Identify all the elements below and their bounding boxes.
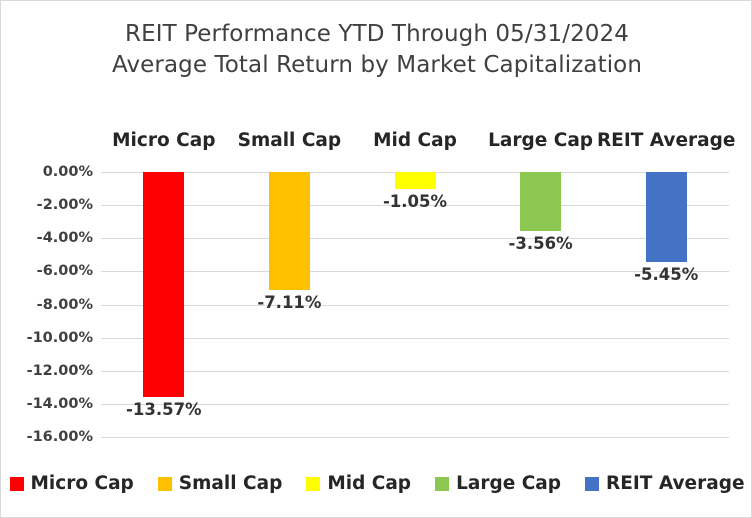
plot-area: -13.57%-7.11%-1.05%-3.56%-5.45% (101, 172, 729, 437)
gridline (101, 338, 729, 339)
category-label-small-cap: Small Cap (238, 130, 342, 151)
bar-value-label-large-cap: -3.56% (509, 234, 573, 253)
legend-item-large-cap[interactable]: Large Cap (435, 473, 561, 494)
chart-title: REIT Performance YTD Through 05/31/2024 … (1, 19, 752, 81)
y-axis: 0.00%-2.00%-4.00%-6.00%-8.00%-10.00%-12.… (1, 1, 101, 518)
chart-title-line-1: REIT Performance YTD Through 05/31/2024 (1, 19, 752, 50)
category-label-large-cap: Large Cap (488, 130, 593, 151)
bar-small-cap[interactable] (269, 172, 310, 290)
y-axis-tick-label: -12.00% (27, 363, 93, 379)
legend-item-micro-cap[interactable]: Micro Cap (10, 473, 134, 494)
category-label-micro-cap: Micro Cap (112, 130, 215, 151)
category-label-mid-cap: Mid Cap (373, 130, 457, 151)
y-axis-tick-label: -6.00% (37, 263, 93, 279)
chart-title-line-2: Average Total Return by Market Capitaliz… (1, 50, 752, 81)
y-axis-tick-label: -10.00% (27, 330, 93, 346)
y-axis-tick-label: -4.00% (37, 230, 93, 246)
bar-value-label-mid-cap: -1.05% (383, 192, 447, 211)
legend-label: Mid Cap (327, 473, 411, 494)
legend-label: Small Cap (179, 473, 283, 494)
gridline (101, 305, 729, 306)
legend-item-small-cap[interactable]: Small Cap (158, 473, 283, 494)
bar-reit-average[interactable] (646, 172, 687, 262)
y-axis-tick-label: 0.00% (43, 164, 93, 180)
y-axis-tick-label: -2.00% (37, 197, 93, 213)
gridline (101, 371, 729, 372)
legend-swatch-icon (435, 477, 449, 491)
bar-value-label-micro-cap: -13.57% (126, 400, 202, 419)
legend-label: Micro Cap (31, 473, 134, 494)
chart-legend: Micro CapSmall CapMid CapLarge CapREIT A… (1, 473, 752, 494)
y-axis-tick-label: -14.00% (27, 396, 93, 412)
legend-label: REIT Average (606, 473, 745, 494)
gridline (101, 437, 729, 438)
y-axis-tick-label: -16.00% (27, 429, 93, 445)
category-label-reit-average: REIT Average (597, 130, 736, 151)
bar-micro-cap[interactable] (143, 172, 184, 397)
bar-value-label-small-cap: -7.11% (257, 293, 321, 312)
chart-container: REIT Performance YTD Through 05/31/2024 … (0, 0, 752, 518)
bar-mid-cap[interactable] (395, 172, 436, 189)
category-axis-labels: Micro CapSmall CapMid CapLarge CapREIT A… (101, 130, 729, 158)
legend-swatch-icon (585, 477, 599, 491)
legend-swatch-icon (158, 477, 172, 491)
legend-item-mid-cap[interactable]: Mid Cap (306, 473, 411, 494)
legend-swatch-icon (306, 477, 320, 491)
gridline (101, 238, 729, 239)
legend-swatch-icon (10, 477, 24, 491)
y-axis-tick-label: -8.00% (37, 297, 93, 313)
bar-value-label-reit-average: -5.45% (634, 265, 698, 284)
bar-large-cap[interactable] (520, 172, 561, 231)
legend-label: Large Cap (456, 473, 561, 494)
legend-item-reit-average[interactable]: REIT Average (585, 473, 745, 494)
